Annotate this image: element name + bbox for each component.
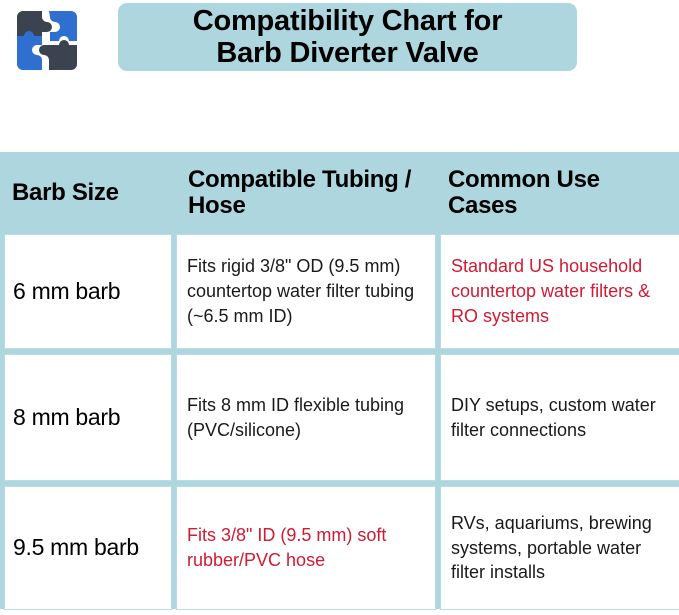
cell-common-use-cases: DIY setups, custom water filter connecti… (440, 354, 679, 481)
compatibility-table: Barb Size Compatible Tubing / Hose Commo… (0, 152, 679, 615)
table-header: Barb Size Compatible Tubing / Hose Commo… (4, 157, 679, 229)
column-header-compatible-tubing: Compatible Tubing / Hose (176, 157, 436, 229)
cell-compatible-tubing: Fits 8 mm ID flexible tubing (PVC/silico… (176, 354, 436, 481)
cell-barb-size: 8 mm barb (4, 354, 172, 481)
cell-common-use-cases: RVs, aquariums, brewing systems, portabl… (440, 486, 679, 610)
cell-barb-size: 6 mm barb (4, 234, 172, 349)
cell-common-use-cases: Standard US household countertop water f… (440, 234, 679, 349)
table-row: 9.5 mm barb Fits 3/8" ID (9.5 mm) soft r… (4, 486, 679, 610)
page-title: Compatibility Chart for Barb Diverter Va… (187, 5, 509, 70)
column-header-common-use-cases: Common Use Cases (440, 157, 679, 229)
compatibility-table-container: Barb Size Compatible Tubing / Hose Commo… (0, 152, 679, 609)
column-header-barb-size: Barb Size (4, 157, 172, 229)
cell-compatible-tubing: Fits rigid 3/8" OD (9.5 mm) countertop w… (176, 234, 436, 349)
table-body: 6 mm barb Fits rigid 3/8" OD (9.5 mm) co… (4, 234, 679, 610)
title-banner: Compatibility Chart for Barb Diverter Va… (0, 0, 679, 86)
table-row: 8 mm barb Fits 8 mm ID flexible tubing (… (4, 354, 679, 481)
table-row: 6 mm barb Fits rigid 3/8" OD (9.5 mm) co… (4, 234, 679, 349)
puzzle-pieces-icon (11, 8, 83, 73)
cell-compatible-tubing: Fits 3/8" ID (9.5 mm) soft rubber/PVC ho… (176, 486, 436, 610)
table-header-row: Barb Size Compatible Tubing / Hose Commo… (4, 157, 679, 229)
chart-title-pill: Compatibility Chart for Barb Diverter Va… (118, 3, 577, 71)
cell-barb-size: 9.5 mm barb (4, 486, 172, 610)
